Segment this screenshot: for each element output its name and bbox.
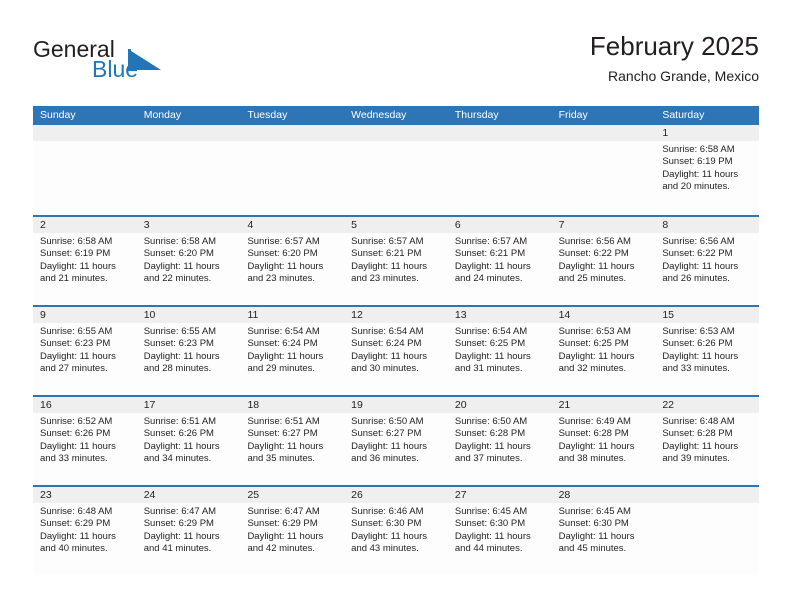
calendar-day-cell[interactable]: 25Sunrise: 6:47 AMSunset: 6:29 PMDayligh…	[240, 487, 344, 575]
sunrise-time: Sunrise: 6:47 AM	[247, 506, 339, 518]
daylight-duration-line1: Daylight: 11 hours	[247, 351, 339, 363]
daylight-duration-line2: and 41 minutes.	[144, 543, 236, 555]
sunset-time: Sunset: 6:27 PM	[351, 428, 443, 440]
day-number	[137, 125, 241, 141]
daylight-duration-line1: Daylight: 11 hours	[455, 441, 547, 453]
calendar-day-cell[interactable]: 4Sunrise: 6:57 AMSunset: 6:20 PMDaylight…	[240, 217, 344, 305]
daylight-duration-line1: Daylight: 11 hours	[662, 261, 754, 273]
daylight-duration-line2: and 32 minutes.	[559, 363, 651, 375]
day-number	[448, 125, 552, 141]
calendar-day-cell[interactable]: 2Sunrise: 6:58 AMSunset: 6:19 PMDaylight…	[33, 217, 137, 305]
daylight-duration-line1: Daylight: 11 hours	[559, 351, 651, 363]
daylight-duration-line2: and 30 minutes.	[351, 363, 443, 375]
day-sun-info: Sunrise: 6:55 AMSunset: 6:23 PMDaylight:…	[137, 323, 241, 376]
daylight-duration-line1: Daylight: 11 hours	[662, 169, 754, 181]
calendar-week-row: 1Sunrise: 6:58 AMSunset: 6:19 PMDaylight…	[33, 125, 759, 215]
day-number: 10	[137, 307, 241, 323]
weekday-header-thursday: Thursday	[448, 106, 552, 125]
day-number: 6	[448, 217, 552, 233]
calendar-day-cell-empty	[137, 125, 241, 215]
daylight-duration-line1: Daylight: 11 hours	[144, 351, 236, 363]
calendar-grid: Sunday Monday Tuesday Wednesday Thursday…	[33, 106, 759, 575]
daylight-duration-line1: Daylight: 11 hours	[247, 261, 339, 273]
day-number: 1	[655, 125, 759, 141]
daylight-duration-line2: and 21 minutes.	[40, 273, 132, 285]
sunrise-time: Sunrise: 6:48 AM	[662, 416, 754, 428]
title-block: February 2025 Rancho Grande, Mexico	[590, 30, 759, 87]
day-sun-info: Sunrise: 6:55 AMSunset: 6:23 PMDaylight:…	[33, 323, 137, 376]
sunset-time: Sunset: 6:26 PM	[40, 428, 132, 440]
sunset-time: Sunset: 6:24 PM	[247, 338, 339, 350]
sunrise-time: Sunrise: 6:54 AM	[247, 326, 339, 338]
sunset-time: Sunset: 6:29 PM	[40, 518, 132, 530]
daylight-duration-line1: Daylight: 11 hours	[247, 531, 339, 543]
day-number: 16	[33, 397, 137, 413]
daylight-duration-line1: Daylight: 11 hours	[144, 261, 236, 273]
day-sun-info: Sunrise: 6:54 AMSunset: 6:24 PMDaylight:…	[344, 323, 448, 376]
sunrise-time: Sunrise: 6:57 AM	[351, 236, 443, 248]
day-number	[552, 125, 656, 141]
day-sun-info: Sunrise: 6:57 AMSunset: 6:21 PMDaylight:…	[344, 233, 448, 286]
sunset-time: Sunset: 6:26 PM	[662, 338, 754, 350]
daylight-duration-line1: Daylight: 11 hours	[247, 441, 339, 453]
daylight-duration-line1: Daylight: 11 hours	[40, 351, 132, 363]
sunset-time: Sunset: 6:30 PM	[455, 518, 547, 530]
calendar-day-cell-empty	[448, 125, 552, 215]
calendar-day-cell[interactable]: 11Sunrise: 6:54 AMSunset: 6:24 PMDayligh…	[240, 307, 344, 395]
sunrise-time: Sunrise: 6:46 AM	[351, 506, 443, 518]
day-number	[240, 125, 344, 141]
calendar-day-cell[interactable]: 21Sunrise: 6:49 AMSunset: 6:28 PMDayligh…	[552, 397, 656, 485]
sunrise-time: Sunrise: 6:57 AM	[455, 236, 547, 248]
sunrise-time: Sunrise: 6:53 AM	[559, 326, 651, 338]
calendar-day-cell[interactable]: 5Sunrise: 6:57 AMSunset: 6:21 PMDaylight…	[344, 217, 448, 305]
day-number: 2	[33, 217, 137, 233]
page-subtitle: Rancho Grande, Mexico	[590, 65, 759, 87]
calendar-day-cell[interactable]: 19Sunrise: 6:50 AMSunset: 6:27 PMDayligh…	[344, 397, 448, 485]
day-number	[33, 125, 137, 141]
sunrise-time: Sunrise: 6:55 AM	[144, 326, 236, 338]
day-number: 9	[33, 307, 137, 323]
calendar-day-cell[interactable]: 13Sunrise: 6:54 AMSunset: 6:25 PMDayligh…	[448, 307, 552, 395]
weekday-header-friday: Friday	[552, 106, 656, 125]
day-number: 25	[240, 487, 344, 503]
daylight-duration-line1: Daylight: 11 hours	[144, 531, 236, 543]
daylight-duration-line2: and 45 minutes.	[559, 543, 651, 555]
calendar-day-cell[interactable]: 28Sunrise: 6:45 AMSunset: 6:30 PMDayligh…	[552, 487, 656, 575]
sunrise-time: Sunrise: 6:50 AM	[351, 416, 443, 428]
calendar-day-cell[interactable]: 27Sunrise: 6:45 AMSunset: 6:30 PMDayligh…	[448, 487, 552, 575]
day-number: 27	[448, 487, 552, 503]
daylight-duration-line1: Daylight: 11 hours	[351, 351, 443, 363]
sunset-time: Sunset: 6:22 PM	[662, 248, 754, 260]
daylight-duration-line1: Daylight: 11 hours	[559, 531, 651, 543]
sunrise-time: Sunrise: 6:58 AM	[40, 236, 132, 248]
sunrise-time: Sunrise: 6:50 AM	[455, 416, 547, 428]
calendar-day-cell[interactable]: 8Sunrise: 6:56 AMSunset: 6:22 PMDaylight…	[655, 217, 759, 305]
daylight-duration-line1: Daylight: 11 hours	[40, 531, 132, 543]
calendar-day-cell[interactable]: 15Sunrise: 6:53 AMSunset: 6:26 PMDayligh…	[655, 307, 759, 395]
daylight-duration-line2: and 33 minutes.	[662, 363, 754, 375]
sunset-time: Sunset: 6:28 PM	[455, 428, 547, 440]
calendar-day-cell[interactable]: 20Sunrise: 6:50 AMSunset: 6:28 PMDayligh…	[448, 397, 552, 485]
day-sun-info: Sunrise: 6:50 AMSunset: 6:27 PMDaylight:…	[344, 413, 448, 466]
calendar-day-cell[interactable]: 16Sunrise: 6:52 AMSunset: 6:26 PMDayligh…	[33, 397, 137, 485]
day-sun-info: Sunrise: 6:51 AMSunset: 6:27 PMDaylight:…	[240, 413, 344, 466]
sunset-time: Sunset: 6:25 PM	[455, 338, 547, 350]
triangle-flag-icon	[128, 49, 162, 71]
day-sun-info: Sunrise: 6:58 AMSunset: 6:20 PMDaylight:…	[137, 233, 241, 286]
day-number: 15	[655, 307, 759, 323]
calendar-weeks: 1Sunrise: 6:58 AMSunset: 6:19 PMDaylight…	[33, 125, 759, 575]
daylight-duration-line2: and 35 minutes.	[247, 453, 339, 465]
day-number: 23	[33, 487, 137, 503]
weekday-header-wednesday: Wednesday	[344, 106, 448, 125]
calendar-day-cell-empty	[552, 125, 656, 215]
daylight-duration-line2: and 29 minutes.	[247, 363, 339, 375]
day-number: 13	[448, 307, 552, 323]
day-sun-info: Sunrise: 6:53 AMSunset: 6:26 PMDaylight:…	[655, 323, 759, 376]
page-title: February 2025	[590, 30, 759, 62]
sunrise-time: Sunrise: 6:45 AM	[559, 506, 651, 518]
day-number: 21	[552, 397, 656, 413]
daylight-duration-line2: and 38 minutes.	[559, 453, 651, 465]
sunset-time: Sunset: 6:25 PM	[559, 338, 651, 350]
daylight-duration-line1: Daylight: 11 hours	[351, 261, 443, 273]
daylight-duration-line2: and 34 minutes.	[144, 453, 236, 465]
sunset-time: Sunset: 6:23 PM	[144, 338, 236, 350]
calendar-day-cell[interactable]: 10Sunrise: 6:55 AMSunset: 6:23 PMDayligh…	[137, 307, 241, 395]
day-sun-info: Sunrise: 6:57 AMSunset: 6:21 PMDaylight:…	[448, 233, 552, 286]
day-number: 17	[137, 397, 241, 413]
calendar-week-row: 23Sunrise: 6:48 AMSunset: 6:29 PMDayligh…	[33, 485, 759, 575]
calendar-day-cell-empty	[33, 125, 137, 215]
sunrise-time: Sunrise: 6:55 AM	[40, 326, 132, 338]
day-sun-info: Sunrise: 6:45 AMSunset: 6:30 PMDaylight:…	[448, 503, 552, 556]
sunrise-time: Sunrise: 6:51 AM	[144, 416, 236, 428]
weekday-header-row: Sunday Monday Tuesday Wednesday Thursday…	[33, 106, 759, 125]
daylight-duration-line2: and 25 minutes.	[559, 273, 651, 285]
sunset-time: Sunset: 6:23 PM	[40, 338, 132, 350]
calendar-day-cell-empty	[344, 125, 448, 215]
day-number: 20	[448, 397, 552, 413]
daylight-duration-line2: and 36 minutes.	[351, 453, 443, 465]
day-sun-info: Sunrise: 6:51 AMSunset: 6:26 PMDaylight:…	[137, 413, 241, 466]
calendar-day-cell[interactable]: 9Sunrise: 6:55 AMSunset: 6:23 PMDaylight…	[33, 307, 137, 395]
calendar-day-cell[interactable]: 1Sunrise: 6:58 AMSunset: 6:19 PMDaylight…	[655, 125, 759, 215]
calendar-day-cell[interactable]: 7Sunrise: 6:56 AMSunset: 6:22 PMDaylight…	[552, 217, 656, 305]
day-number: 18	[240, 397, 344, 413]
day-number: 5	[344, 217, 448, 233]
daylight-duration-line2: and 22 minutes.	[144, 273, 236, 285]
daylight-duration-line1: Daylight: 11 hours	[559, 261, 651, 273]
daylight-duration-line2: and 28 minutes.	[144, 363, 236, 375]
sunrise-time: Sunrise: 6:47 AM	[144, 506, 236, 518]
sunset-time: Sunset: 6:20 PM	[144, 248, 236, 260]
sunset-time: Sunset: 6:27 PM	[247, 428, 339, 440]
sunrise-time: Sunrise: 6:51 AM	[247, 416, 339, 428]
calendar-day-cell-empty	[655, 487, 759, 575]
sunset-time: Sunset: 6:22 PM	[559, 248, 651, 260]
calendar-day-cell[interactable]: 12Sunrise: 6:54 AMSunset: 6:24 PMDayligh…	[344, 307, 448, 395]
day-sun-info: Sunrise: 6:48 AMSunset: 6:28 PMDaylight:…	[655, 413, 759, 466]
sunset-time: Sunset: 6:20 PM	[247, 248, 339, 260]
daylight-duration-line1: Daylight: 11 hours	[351, 441, 443, 453]
daylight-duration-line2: and 27 minutes.	[40, 363, 132, 375]
day-sun-info: Sunrise: 6:54 AMSunset: 6:25 PMDaylight:…	[448, 323, 552, 376]
calendar-day-cell[interactable]: 6Sunrise: 6:57 AMSunset: 6:21 PMDaylight…	[448, 217, 552, 305]
daylight-duration-line1: Daylight: 11 hours	[40, 441, 132, 453]
daylight-duration-line2: and 42 minutes.	[247, 543, 339, 555]
sunset-time: Sunset: 6:19 PM	[662, 156, 754, 168]
daylight-duration-line2: and 40 minutes.	[40, 543, 132, 555]
sunset-time: Sunset: 6:28 PM	[559, 428, 651, 440]
sunrise-time: Sunrise: 6:48 AM	[40, 506, 132, 518]
daylight-duration-line1: Daylight: 11 hours	[662, 351, 754, 363]
day-sun-info: Sunrise: 6:54 AMSunset: 6:24 PMDaylight:…	[240, 323, 344, 376]
sunset-time: Sunset: 6:29 PM	[144, 518, 236, 530]
calendar-day-cell[interactable]: 3Sunrise: 6:58 AMSunset: 6:20 PMDaylight…	[137, 217, 241, 305]
day-sun-info: Sunrise: 6:45 AMSunset: 6:30 PMDaylight:…	[552, 503, 656, 556]
weekday-header-sunday: Sunday	[33, 106, 137, 125]
day-sun-info: Sunrise: 6:56 AMSunset: 6:22 PMDaylight:…	[552, 233, 656, 286]
day-number: 24	[137, 487, 241, 503]
brand-logo[interactable]: General Blue	[33, 36, 273, 92]
calendar-day-cell[interactable]: 23Sunrise: 6:48 AMSunset: 6:29 PMDayligh…	[33, 487, 137, 575]
sunrise-time: Sunrise: 6:52 AM	[40, 416, 132, 428]
daylight-duration-line1: Daylight: 11 hours	[662, 441, 754, 453]
sunset-time: Sunset: 6:19 PM	[40, 248, 132, 260]
daylight-duration-line2: and 31 minutes.	[455, 363, 547, 375]
sunset-time: Sunset: 6:24 PM	[351, 338, 443, 350]
sunrise-time: Sunrise: 6:57 AM	[247, 236, 339, 248]
weekday-header-tuesday: Tuesday	[240, 106, 344, 125]
calendar-day-cell[interactable]: 26Sunrise: 6:46 AMSunset: 6:30 PMDayligh…	[344, 487, 448, 575]
daylight-duration-line1: Daylight: 11 hours	[455, 351, 547, 363]
page-header: General Blue February 2025 Rancho Grande…	[33, 30, 759, 98]
sunrise-time: Sunrise: 6:56 AM	[559, 236, 651, 248]
day-number: 19	[344, 397, 448, 413]
calendar-day-cell-empty	[240, 125, 344, 215]
sunrise-time: Sunrise: 6:49 AM	[559, 416, 651, 428]
day-sun-info: Sunrise: 6:50 AMSunset: 6:28 PMDaylight:…	[448, 413, 552, 466]
day-sun-info: Sunrise: 6:47 AMSunset: 6:29 PMDaylight:…	[137, 503, 241, 556]
sunset-time: Sunset: 6:29 PM	[247, 518, 339, 530]
day-sun-info: Sunrise: 6:58 AMSunset: 6:19 PMDaylight:…	[33, 233, 137, 286]
daylight-duration-line2: and 26 minutes.	[662, 273, 754, 285]
day-number: 26	[344, 487, 448, 503]
sunrise-time: Sunrise: 6:58 AM	[662, 144, 754, 156]
daylight-duration-line2: and 20 minutes.	[662, 181, 754, 193]
sunrise-time: Sunrise: 6:54 AM	[351, 326, 443, 338]
sunrise-time: Sunrise: 6:56 AM	[662, 236, 754, 248]
weekday-header-monday: Monday	[137, 106, 241, 125]
day-sun-info: Sunrise: 6:56 AMSunset: 6:22 PMDaylight:…	[655, 233, 759, 286]
sunset-time: Sunset: 6:21 PM	[351, 248, 443, 260]
daylight-duration-line2: and 39 minutes.	[662, 453, 754, 465]
calendar-day-cell[interactable]: 14Sunrise: 6:53 AMSunset: 6:25 PMDayligh…	[552, 307, 656, 395]
day-sun-info: Sunrise: 6:58 AMSunset: 6:19 PMDaylight:…	[655, 141, 759, 194]
daylight-duration-line2: and 24 minutes.	[455, 273, 547, 285]
sunrise-time: Sunrise: 6:58 AM	[144, 236, 236, 248]
daylight-duration-line2: and 23 minutes.	[247, 273, 339, 285]
day-sun-info: Sunrise: 6:53 AMSunset: 6:25 PMDaylight:…	[552, 323, 656, 376]
day-number: 4	[240, 217, 344, 233]
calendar-week-row: 16Sunrise: 6:52 AMSunset: 6:26 PMDayligh…	[33, 395, 759, 485]
day-number: 11	[240, 307, 344, 323]
day-number: 14	[552, 307, 656, 323]
daylight-duration-line2: and 33 minutes.	[40, 453, 132, 465]
day-number: 7	[552, 217, 656, 233]
calendar-week-row: 9Sunrise: 6:55 AMSunset: 6:23 PMDaylight…	[33, 305, 759, 395]
daylight-duration-line1: Daylight: 11 hours	[144, 441, 236, 453]
daylight-duration-line1: Daylight: 11 hours	[455, 531, 547, 543]
calendar-page: General Blue February 2025 Rancho Grande…	[0, 0, 792, 612]
day-sun-info: Sunrise: 6:46 AMSunset: 6:30 PMDaylight:…	[344, 503, 448, 556]
daylight-duration-line1: Daylight: 11 hours	[40, 261, 132, 273]
sunset-time: Sunset: 6:26 PM	[144, 428, 236, 440]
day-sun-info: Sunrise: 6:49 AMSunset: 6:28 PMDaylight:…	[552, 413, 656, 466]
daylight-duration-line1: Daylight: 11 hours	[351, 531, 443, 543]
day-number: 22	[655, 397, 759, 413]
calendar-week-row: 2Sunrise: 6:58 AMSunset: 6:19 PMDaylight…	[33, 215, 759, 305]
calendar-day-cell[interactable]: 22Sunrise: 6:48 AMSunset: 6:28 PMDayligh…	[655, 397, 759, 485]
daylight-duration-line2: and 44 minutes.	[455, 543, 547, 555]
sunset-time: Sunset: 6:30 PM	[559, 518, 651, 530]
calendar-day-cell[interactable]: 18Sunrise: 6:51 AMSunset: 6:27 PMDayligh…	[240, 397, 344, 485]
sunrise-time: Sunrise: 6:54 AM	[455, 326, 547, 338]
daylight-duration-line1: Daylight: 11 hours	[559, 441, 651, 453]
sunset-time: Sunset: 6:30 PM	[351, 518, 443, 530]
day-number: 3	[137, 217, 241, 233]
daylight-duration-line2: and 43 minutes.	[351, 543, 443, 555]
sunset-time: Sunset: 6:21 PM	[455, 248, 547, 260]
sunrise-time: Sunrise: 6:53 AM	[662, 326, 754, 338]
calendar-day-cell[interactable]: 17Sunrise: 6:51 AMSunset: 6:26 PMDayligh…	[137, 397, 241, 485]
daylight-duration-line2: and 37 minutes.	[455, 453, 547, 465]
weekday-header-saturday: Saturday	[655, 106, 759, 125]
sunrise-time: Sunrise: 6:45 AM	[455, 506, 547, 518]
daylight-duration-line2: and 23 minutes.	[351, 273, 443, 285]
day-number: 12	[344, 307, 448, 323]
day-sun-info: Sunrise: 6:48 AMSunset: 6:29 PMDaylight:…	[33, 503, 137, 556]
calendar-day-cell[interactable]: 24Sunrise: 6:47 AMSunset: 6:29 PMDayligh…	[137, 487, 241, 575]
day-number: 8	[655, 217, 759, 233]
day-sun-info: Sunrise: 6:57 AMSunset: 6:20 PMDaylight:…	[240, 233, 344, 286]
day-number: 28	[552, 487, 656, 503]
sunset-time: Sunset: 6:28 PM	[662, 428, 754, 440]
day-number	[344, 125, 448, 141]
day-number	[655, 487, 759, 503]
daylight-duration-line1: Daylight: 11 hours	[455, 261, 547, 273]
day-sun-info: Sunrise: 6:47 AMSunset: 6:29 PMDaylight:…	[240, 503, 344, 556]
day-sun-info: Sunrise: 6:52 AMSunset: 6:26 PMDaylight:…	[33, 413, 137, 466]
